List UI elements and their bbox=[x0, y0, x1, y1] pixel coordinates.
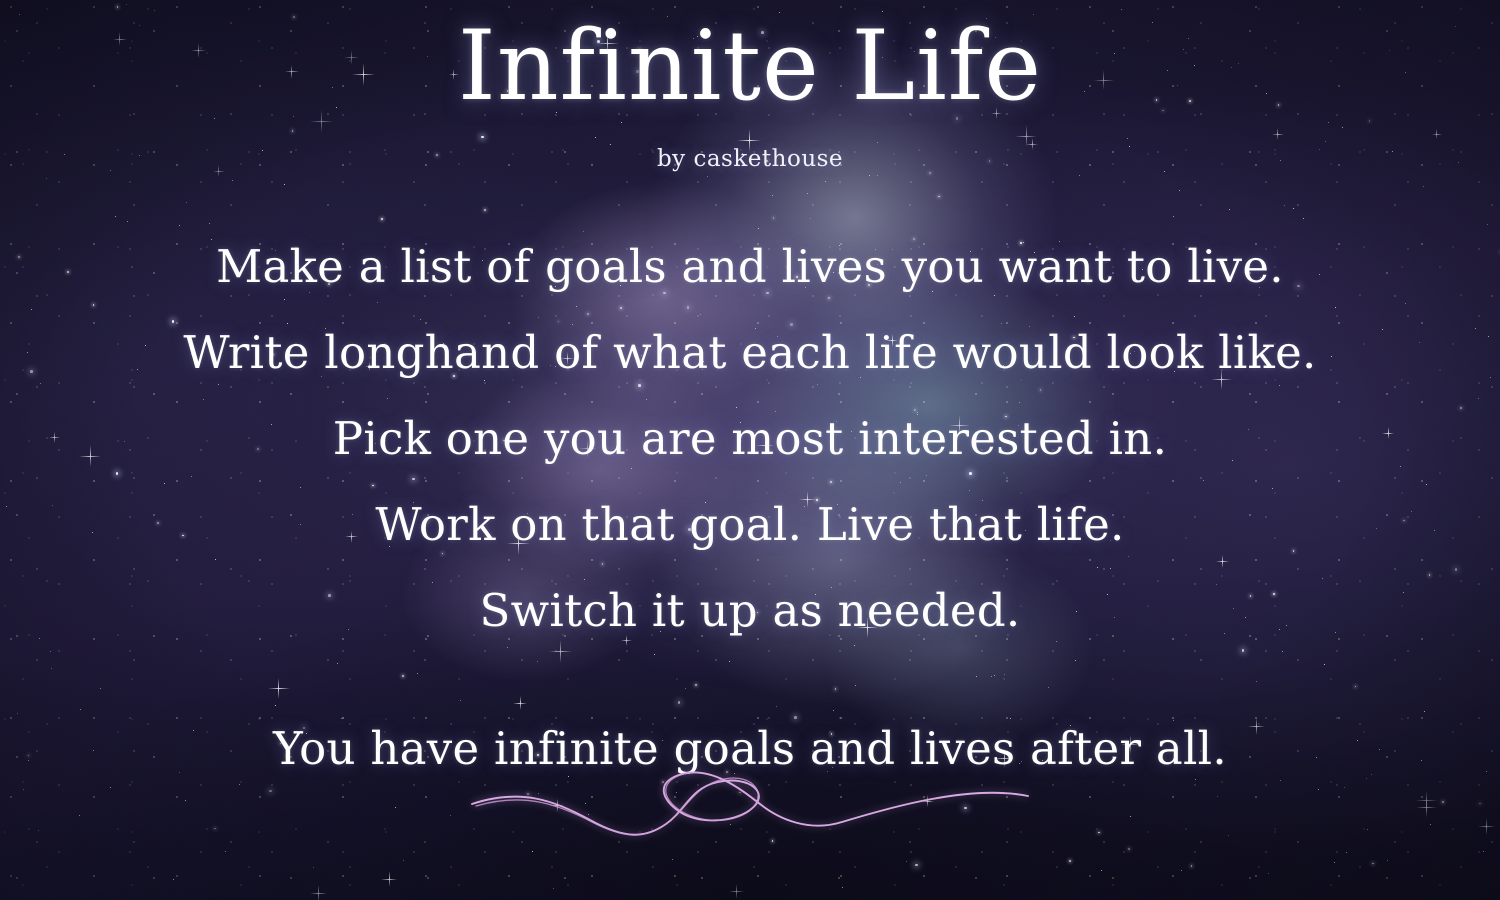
page-title: Infinite Life bbox=[0, 16, 1500, 117]
poem-line: Switch it up as needed. bbox=[0, 568, 1500, 654]
poem-line: Make a list of goals and lives you want … bbox=[0, 224, 1500, 310]
author-byline: by caskethouse bbox=[0, 146, 1500, 172]
poem-line: Write longhand of what each life would l… bbox=[0, 310, 1500, 396]
infinity-icon bbox=[450, 762, 1050, 842]
poem-poster: Infinite Life by caskethouse Make a list… bbox=[0, 0, 1500, 900]
poem-stanza: Make a list of goals and lives you want … bbox=[0, 224, 1500, 792]
infinity-flourish-ornament bbox=[0, 762, 1500, 842]
poem-line: Work on that goal. Live that life. bbox=[0, 482, 1500, 568]
poem-content: Infinite Life by caskethouse Make a list… bbox=[0, 0, 1500, 900]
poem-line: Pick one you are most interested in. bbox=[0, 396, 1500, 482]
